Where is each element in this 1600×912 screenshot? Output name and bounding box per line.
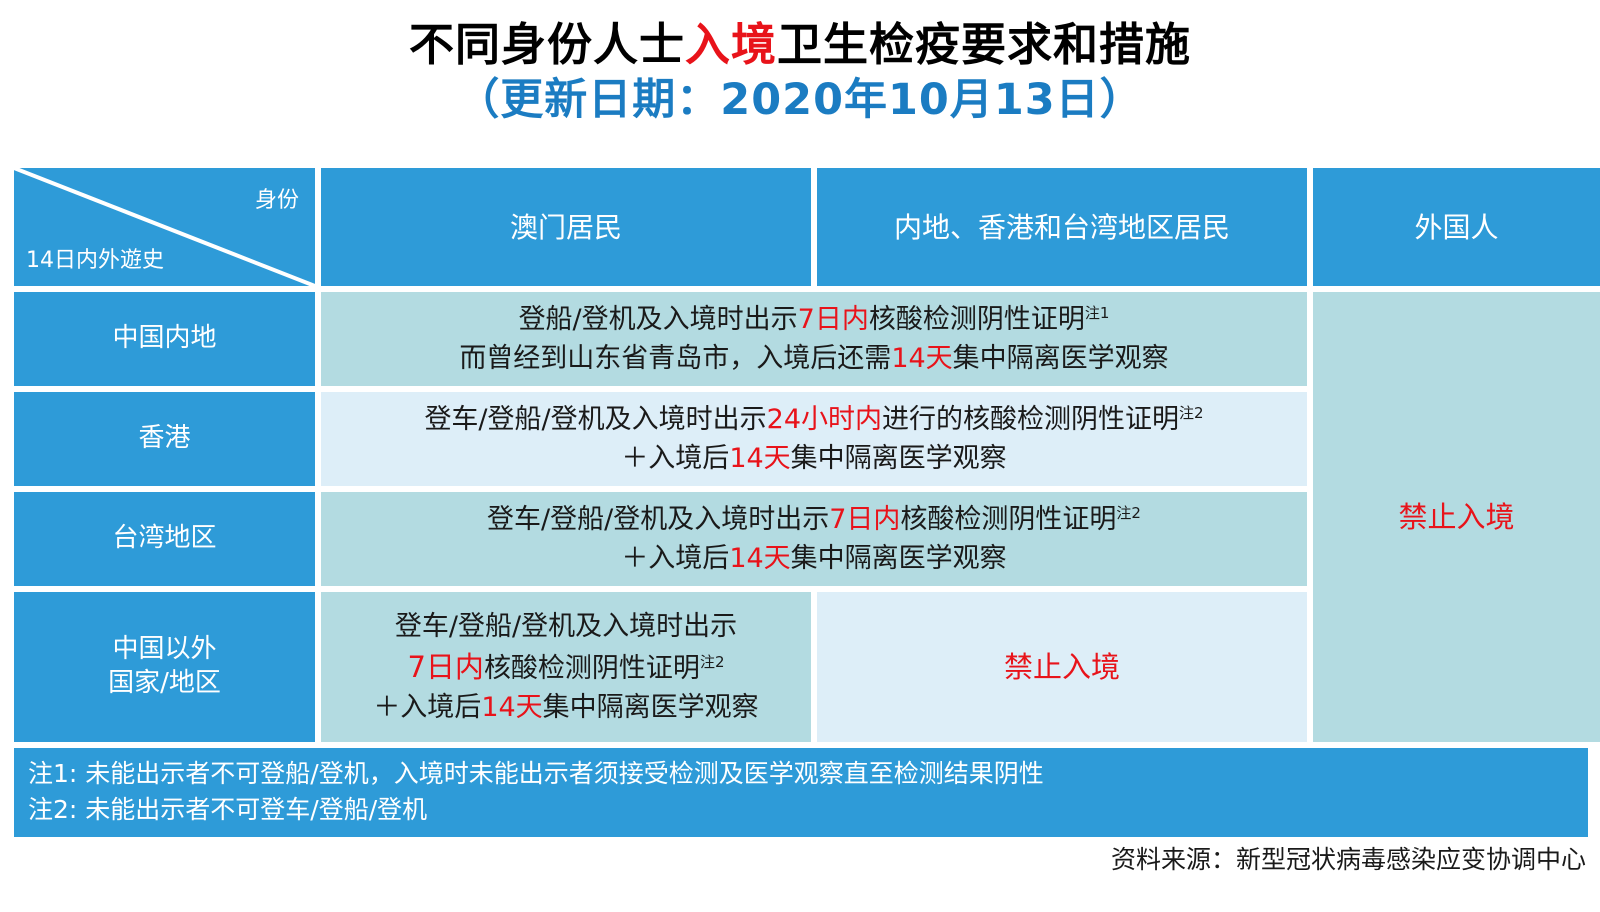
r4-l2-post: 核酸检测阴性证明 — [484, 653, 700, 684]
cell-row4-macau-requirements: 登车/登船/登机及入境时出示 7日内核酸检测阴性证明注2 ＋入境后14天集中隔离… — [321, 592, 811, 742]
r1-l1-post: 核酸检测阴性证明 — [869, 304, 1085, 335]
cell-row4-line2: 7日内核酸检测阴性证明注2 — [373, 646, 758, 688]
r3-l1-post: 核酸检测阴性证明 — [900, 504, 1116, 535]
column-header-mainland-hk-tw: 内地、香港和台湾地区居民 — [817, 168, 1307, 286]
page-subtitle: （更新日期：2020年10月13日） — [0, 75, 1600, 127]
r1-l1-red: 7日内 — [798, 304, 869, 335]
r1-l1-pre: 登船/登机及入境时出示 — [519, 304, 798, 335]
footnotes-band: 注1: 未能出示者不可登船/登机，入境时未能出示者须接受检测及医学观察直至检测结… — [14, 748, 1588, 837]
corner-label-travel-history: 14日内外遊史 — [26, 242, 164, 274]
r3-l2-post: 集中隔离医学观察 — [791, 543, 1007, 574]
r1-l2-red: 14天 — [891, 343, 952, 374]
r4-l3-red: 14天 — [481, 692, 542, 723]
r2-l1-red: 24小时内 — [767, 404, 882, 435]
r4-l1: 登车/登船/登机及入境时出示 — [373, 607, 758, 646]
corner-label-identity: 身份 — [255, 182, 299, 214]
r2-l1-post: 进行的核酸检测阴性证明 — [882, 404, 1179, 435]
r1-l2-post: 集中隔离医学观察 — [953, 343, 1169, 374]
cell-row2-macau-requirements: 登车/登船/登机及入境时出示24小时内进行的核酸检测阴性证明注2 ＋入境后14天… — [321, 392, 1307, 486]
title-part-1: 不同身份人士 — [409, 18, 685, 71]
row4-ban-text: 禁止入境 — [1004, 646, 1120, 688]
cell-row2-line2: ＋入境后14天集中隔离医学观察 — [424, 439, 1203, 478]
column-header-foreigner: 外国人 — [1313, 168, 1600, 286]
row-label-taiwan: 台湾地区 — [14, 492, 315, 586]
title-block: 不同身份人士入境卫生检疫要求和措施 （更新日期：2020年10月13日） — [0, 0, 1600, 127]
r3-l1-red: 7日内 — [829, 504, 900, 535]
r3-l1-pre: 登车/登船/登机及入境时出示 — [487, 504, 829, 535]
r1-l1-note-ref: 注1 — [1085, 304, 1110, 322]
infographic-page: 不同身份人士入境卫生检疫要求和措施 （更新日期：2020年10月13日） 身份 … — [0, 0, 1600, 912]
page-title: 不同身份人士入境卫生检疫要求和措施 — [0, 18, 1600, 71]
r2-l2-pre: ＋入境后 — [621, 443, 729, 474]
cell-row1-macau-requirements: 登船/登机及入境时出示7日内核酸检测阴性证明注1 而曾经到山东省青岛市，入境后还… — [321, 292, 1307, 386]
r2-l1-note-ref: 注2 — [1179, 404, 1204, 422]
r4-l3-post: 集中隔离医学观察 — [543, 692, 759, 723]
row-label-mainland-china: 中国内地 — [14, 292, 315, 386]
r3-l2-red: 14天 — [729, 543, 790, 574]
row-label-outside-china-line2: 国家/地区 — [108, 667, 221, 701]
cell-foreigner-entry-ban: 禁止入境 — [1313, 292, 1600, 742]
r4-l3-pre: ＋入境后 — [373, 692, 481, 723]
r1-l2-pre: 而曾经到山东省青岛市，入境后还需 — [459, 343, 891, 374]
r4-l2-red: 7日内 — [407, 650, 483, 684]
r2-l1-pre: 登车/登船/登机及入境时出示 — [424, 404, 766, 435]
source-credit: 资料来源：新型冠状病毒感染应变协调中心 — [1111, 840, 1586, 876]
requirements-table: 身份 14日内外遊史 澳门居民 内地、香港和台湾地区居民 外国人 中国内地 登船… — [14, 168, 1588, 837]
row-label-outside-china-line1: 中国以外 — [108, 633, 221, 667]
row-label-outside-china: 中国以外 国家/地区 — [14, 592, 315, 742]
title-highlight: 入境 — [685, 18, 777, 71]
footnote-2: 注2: 未能出示者不可登车/登船/登机 — [28, 792, 1574, 828]
r2-l2-post: 集中隔离医学观察 — [791, 443, 1007, 474]
cell-row4-mainland-hk-tw-ban: 禁止入境 — [817, 592, 1307, 742]
title-part-2: 卫生检疫要求和措施 — [777, 18, 1191, 71]
cell-row1-line1: 登船/登机及入境时出示7日内核酸检测阴性证明注1 — [459, 300, 1168, 339]
r2-l2-red: 14天 — [729, 443, 790, 474]
r3-l2-pre: ＋入境后 — [621, 543, 729, 574]
r3-l1-note-ref: 注2 — [1116, 504, 1141, 522]
foreigner-ban-text: 禁止入境 — [1398, 496, 1514, 538]
column-header-macau-resident: 澳门居民 — [321, 168, 811, 286]
cell-row1-line2: 而曾经到山东省青岛市，入境后还需14天集中隔离医学观察 — [459, 339, 1168, 378]
cell-row4-line3: ＋入境后14天集中隔离医学观察 — [373, 688, 758, 727]
cell-row2-line1: 登车/登船/登机及入境时出示24小时内进行的核酸检测阴性证明注2 — [424, 400, 1203, 439]
cell-row3-line2: ＋入境后14天集中隔离医学观察 — [487, 539, 1141, 578]
row-label-hong-kong: 香港 — [14, 392, 315, 486]
table-corner-header: 身份 14日内外遊史 — [14, 168, 315, 286]
r4-l2-note-ref: 注2 — [700, 653, 725, 671]
footnote-1: 注1: 未能出示者不可登船/登机，入境时未能出示者须接受检测及医学观察直至检测结… — [28, 756, 1574, 792]
cell-row3-macau-requirements: 登车/登船/登机及入境时出示7日内核酸检测阴性证明注2 ＋入境后14天集中隔离医… — [321, 492, 1307, 586]
cell-row3-line1: 登车/登船/登机及入境时出示7日内核酸检测阴性证明注2 — [487, 500, 1141, 539]
table-grid: 身份 14日内外遊史 澳门居民 内地、香港和台湾地区居民 外国人 中国内地 登船… — [14, 168, 1588, 742]
